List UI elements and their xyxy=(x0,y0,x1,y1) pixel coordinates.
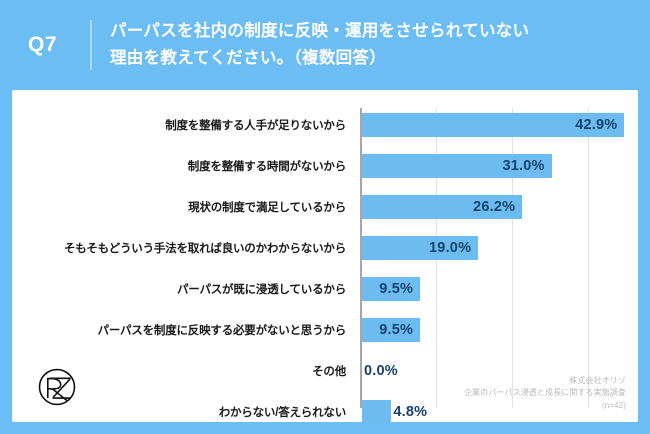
bar-wrap: 42.9% xyxy=(362,113,624,137)
bar-value-label: 4.8% xyxy=(391,404,427,420)
category-label: そもそもどういう手法を取れば良いのかわからないから xyxy=(12,236,354,260)
category-label: パーパスを制度に反映する必要がないと思うから xyxy=(12,318,354,342)
bar-value-label: 0.0% xyxy=(362,363,398,379)
header-divider xyxy=(90,20,92,70)
slide-header: Q7 パーパスを社内の制度に反映・運用をさせられていない 理由を教えてください。… xyxy=(0,0,650,90)
category-label: 現状の制度で満足しているから xyxy=(12,195,354,219)
bar-wrap: 31.0% xyxy=(362,154,552,178)
credit-survey: 企業のパーパス浸透と成長に関する実態調査 xyxy=(464,387,626,399)
category-label: 制度を整備する人手が足りないから xyxy=(12,113,354,137)
bar-wrap: 0.0% xyxy=(362,359,398,383)
bar[interactable]: 42.9% xyxy=(362,113,624,137)
rz-logo-icon xyxy=(34,364,80,410)
bar[interactable] xyxy=(362,400,391,424)
bar-value-label: 26.2% xyxy=(473,199,522,215)
bar-chart: 制度を整備する人手が足りないから42.9%制度を整備する時間がないから31.0%… xyxy=(12,90,638,422)
bar-value-label: 9.5% xyxy=(379,322,420,338)
chart-row: 制度を整備する人手が足りないから42.9% xyxy=(12,113,638,137)
chart-row: パーパスを制度に反映する必要がないと思うから9.5% xyxy=(12,318,638,342)
bar-wrap: 26.2% xyxy=(362,195,522,219)
credit-company: 株式会社オリゾ xyxy=(464,375,626,387)
bar[interactable]: 19.0% xyxy=(362,236,478,260)
bar-wrap: 19.0% xyxy=(362,236,478,260)
bar-value-label: 31.0% xyxy=(502,158,551,174)
category-label: パーパスが既に浸透しているから xyxy=(12,277,354,301)
chart-rows: 制度を整備する人手が足りないから42.9%制度を整備する時間がないから31.0%… xyxy=(12,90,638,422)
chart-row: そもそもどういう手法を取れば良いのかわからないから19.0% xyxy=(12,236,638,260)
category-label: 制度を整備する時間がないから xyxy=(12,154,354,178)
bar[interactable]: 31.0% xyxy=(362,154,552,178)
slide-container: Q7 パーパスを社内の制度に反映・運用をさせられていない 理由を教えてください。… xyxy=(0,0,650,434)
bar-value-label: 42.9% xyxy=(575,117,624,133)
bar-value-label: 19.0% xyxy=(429,240,478,256)
chart-row: 現状の制度で満足しているから26.2% xyxy=(12,195,638,219)
bar[interactable]: 26.2% xyxy=(362,195,522,219)
chart-card: 制度を整備する人手が足りないから42.9%制度を整備する時間がないから31.0%… xyxy=(12,90,638,422)
bar-wrap: 9.5% xyxy=(362,277,420,301)
question-title: パーパスを社内の制度に反映・運用をさせられていない 理由を教えてください。（複数… xyxy=(110,18,529,71)
chart-row: パーパスが既に浸透しているから9.5% xyxy=(12,277,638,301)
bar[interactable]: 9.5% xyxy=(362,277,420,301)
bar-value-label: 9.5% xyxy=(379,281,420,297)
value-axis-line xyxy=(360,108,362,408)
question-number: Q7 xyxy=(28,33,90,57)
bar-wrap: 4.8% xyxy=(362,400,427,424)
credit-block: 株式会社オリゾ 企業のパーパス浸透と成長に関する実態調査 (n=42) xyxy=(464,375,626,412)
credit-sample-size: (n=42) xyxy=(464,400,626,412)
bar[interactable]: 9.5% xyxy=(362,318,420,342)
bar-wrap: 9.5% xyxy=(362,318,420,342)
chart-row: 制度を整備する時間がないから31.0% xyxy=(12,154,638,178)
